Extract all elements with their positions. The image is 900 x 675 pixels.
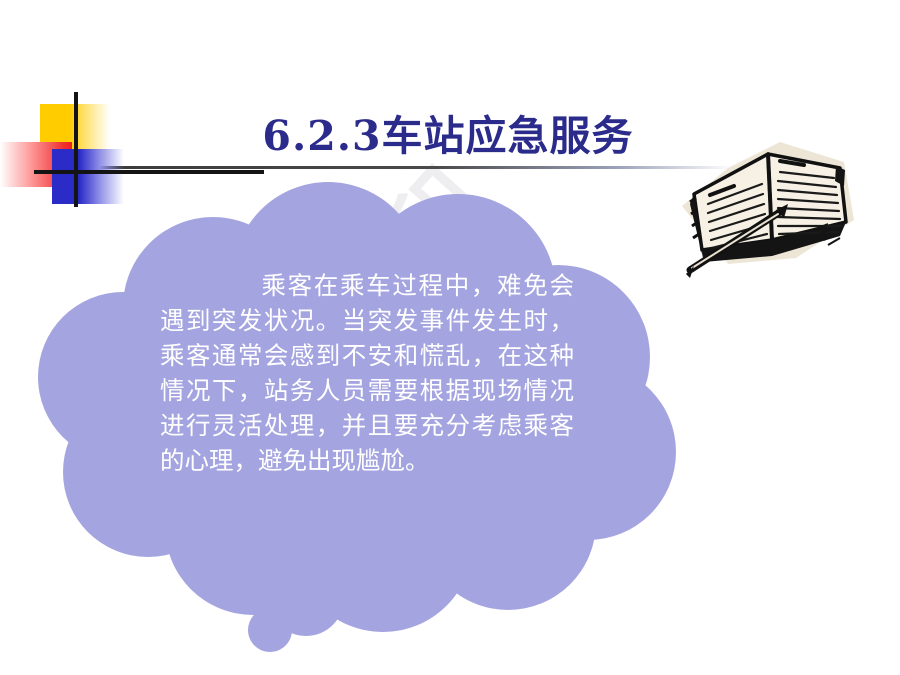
body-paragraph: 乘客在乘车过程中，难免会遇到突发状况。当突发事件发生时，乘客通常会感到不安和慌乱… (160, 268, 574, 478)
open-notebook-icon (668, 128, 868, 278)
horizontal-rule-icon (34, 170, 264, 174)
page-title-text: 6.2.3车站应急服务 (262, 102, 633, 162)
slide-canvas: 非公开印 6.2.3车站应急服务 (0, 0, 900, 675)
